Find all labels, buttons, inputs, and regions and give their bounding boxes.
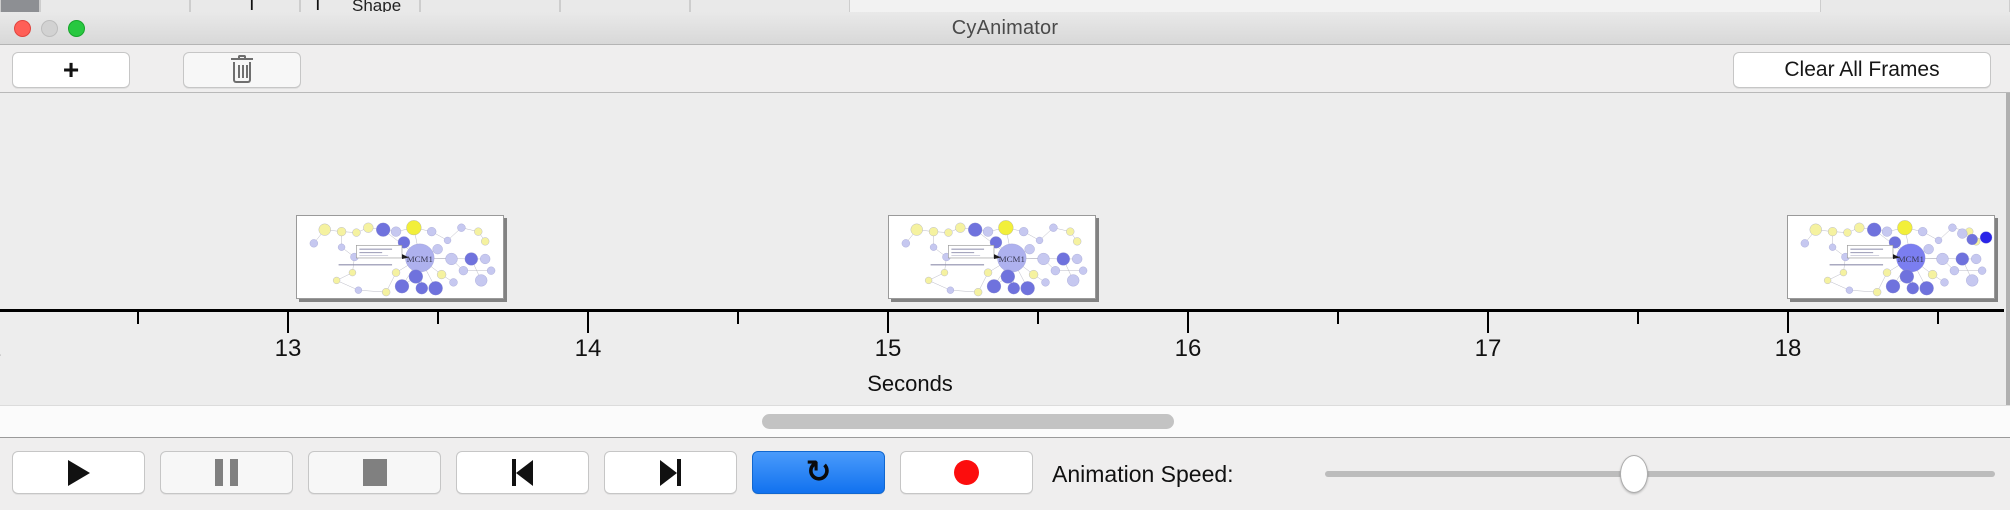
axis-tick [887, 312, 889, 333]
animation-speed-label: Animation Speed: [1052, 461, 1234, 488]
axis-tick [587, 312, 589, 333]
animation-speed-slider[interactable] [1325, 471, 1995, 477]
pause-icon [215, 459, 238, 486]
traffic-lights [14, 20, 85, 37]
stop-icon [363, 459, 387, 486]
axis-tick-label: 13 [275, 335, 302, 363]
axis-tick-label: 15 [875, 335, 902, 363]
slider-track[interactable] [1325, 471, 1995, 477]
background-window-label: Shape [352, 0, 401, 12]
timeline-right-border [2006, 93, 2010, 405]
axis-tick-label: 14 [575, 335, 602, 363]
timeline-panel[interactable]: MCM1MCM1MCM1 12131415161718 Seconds [0, 93, 2010, 405]
axis-tick [1337, 312, 1339, 324]
svg-text:MCM1: MCM1 [999, 254, 1025, 264]
timeline-axis [0, 309, 2004, 312]
toolbar: + Clear All Frames [0, 45, 2010, 93]
background-glyph-2: T [312, 0, 324, 12]
delete-frame-button[interactable] [183, 52, 301, 88]
playback-controls: ↻ Animation Speed: [0, 438, 2010, 510]
loop-icon: ↻ [806, 457, 832, 488]
axis-tick [1187, 312, 1189, 333]
axis-tick [1637, 312, 1639, 324]
timeline-frame[interactable]: MCM1 [888, 215, 1096, 299]
timeline-frame[interactable]: MCM1 [296, 215, 504, 299]
axis-tick-label: 18 [1775, 335, 1802, 363]
clear-all-frames-button[interactable]: Clear All Frames [1733, 52, 1991, 88]
plus-icon: + [63, 56, 79, 84]
clear-all-frames-label: Clear All Frames [1784, 58, 1939, 82]
title-bar: CyAnimator [0, 12, 2010, 45]
svg-text:MCM1: MCM1 [407, 254, 433, 264]
stop-button[interactable] [308, 451, 441, 494]
frame-network-thumbnail: MCM1 [297, 216, 503, 298]
record-icon [954, 460, 979, 485]
svg-text:MCM1: MCM1 [1898, 254, 1924, 264]
play-button[interactable] [12, 451, 145, 494]
frame-network-thumbnail: MCM1 [1788, 216, 1994, 298]
axis-tick-label: 12 [0, 335, 1, 363]
window-title: CyAnimator [952, 17, 1058, 40]
axis-tick [737, 312, 739, 324]
first-frame-button[interactable] [456, 451, 589, 494]
axis-tick [1787, 312, 1789, 333]
background-glyph-1: T [246, 0, 258, 12]
record-button[interactable] [900, 451, 1033, 494]
minimize-button[interactable] [41, 20, 58, 37]
axis-tick [437, 312, 439, 324]
close-button[interactable] [14, 20, 31, 37]
axis-tick-label: 17 [1475, 335, 1502, 363]
trash-icon [231, 58, 253, 83]
background-window-strip: T T Shape [0, 0, 2010, 12]
axis-tick [1937, 312, 1939, 324]
play-icon [68, 460, 90, 486]
axis-tick [137, 312, 139, 324]
pause-button[interactable] [160, 451, 293, 494]
zoom-button[interactable] [68, 20, 85, 37]
axis-tick [287, 312, 289, 333]
timeline-scrollbar-thumb[interactable] [762, 414, 1174, 429]
axis-tick [1037, 312, 1039, 324]
slider-thumb[interactable] [1620, 455, 1648, 493]
timeline-frame[interactable]: MCM1 [1787, 215, 1995, 299]
skip-forward-icon [660, 459, 681, 486]
timeline-scrollbar[interactable] [0, 405, 2010, 438]
axis-tick [1487, 312, 1489, 333]
loop-button[interactable]: ↻ [752, 451, 885, 494]
add-frame-button[interactable]: + [12, 52, 130, 88]
skip-back-icon [512, 459, 533, 486]
axis-tick-label: 16 [1175, 335, 1202, 363]
axis-title: Seconds [0, 371, 2010, 397]
frame-network-thumbnail: MCM1 [889, 216, 1095, 298]
last-frame-button[interactable] [604, 451, 737, 494]
cyanimator-window: T T Shape CyAnimator + Clear All Frames … [0, 0, 2010, 510]
